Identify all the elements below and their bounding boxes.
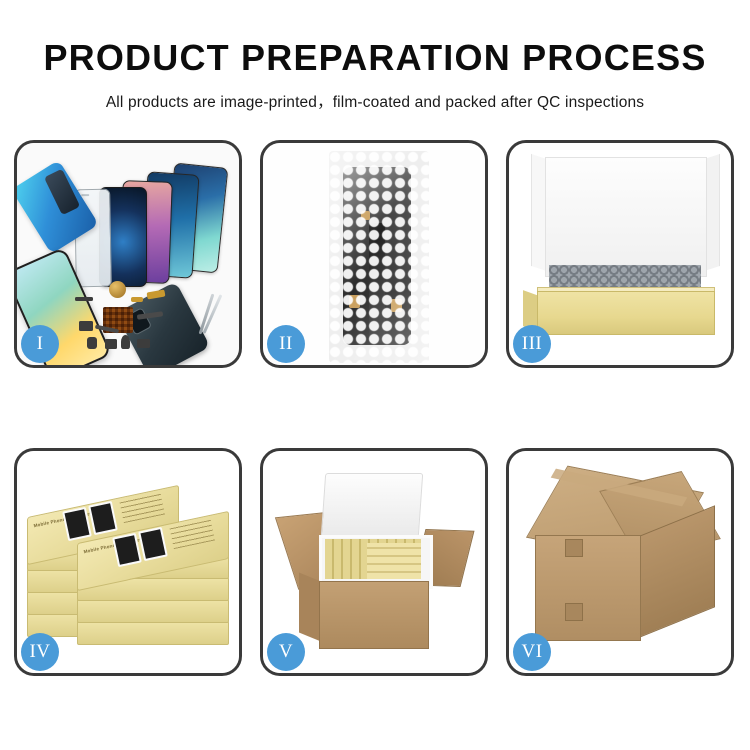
part-camera [87,337,97,349]
bubble-wrap-bag [329,151,429,363]
part-bracket [79,321,93,331]
carton-front-panel [319,581,429,649]
tweezers-tool [193,293,233,339]
retail-box-right-1 [77,621,229,645]
step-card-1: I [14,140,242,368]
speaker-module [109,281,126,298]
step-badge-5: V [267,633,305,671]
carton-tab-lower [565,603,583,621]
part-connector [75,297,93,301]
spare-parts-cluster [75,283,193,363]
carton-front-face [535,535,641,641]
step-card-5: V [260,448,488,676]
step-badge-1: I [21,325,59,363]
step-badge-6: VI [513,633,551,671]
product-preparation-infographic: PRODUCT PREPARATION PROCESS All products… [0,0,750,750]
carton-tab-upper [565,539,583,557]
step-card-3: III [506,140,734,368]
box-yellow-base [537,291,715,335]
page-title: PRODUCT PREPARATION PROCESS [0,40,750,76]
plastic-sheen [329,151,429,363]
retail-box-right-2 [77,599,229,623]
part-button [105,339,117,349]
gold-contact-2 [131,297,143,302]
carton-left-side [299,573,321,642]
step-badge-4: IV [21,633,59,671]
flex-cable-1 [137,311,163,320]
part-vibrator [121,335,130,349]
step-badge-2: II [267,325,305,363]
yellow-boxes-row-2 [367,543,421,579]
step-card-2: II [260,140,488,368]
part-shield [137,339,150,348]
step-card-6: VI [506,448,734,676]
box-white-lid [545,157,707,277]
gold-contact-1 [147,289,166,299]
step-card-4: Mobile Phone Spare Parts Mobile Phone Sp… [14,448,242,676]
foam-lid-open [321,473,423,537]
step-badge-3: III [513,325,551,363]
retail-box-stack: Mobile Phone Spare Parts Mobile Phone Sp… [21,471,239,667]
page-subtitle: All products are image-printed，film-coat… [0,90,750,112]
page-header: PRODUCT PREPARATION PROCESS All products… [0,0,750,112]
process-steps-grid: I II [14,140,736,676]
